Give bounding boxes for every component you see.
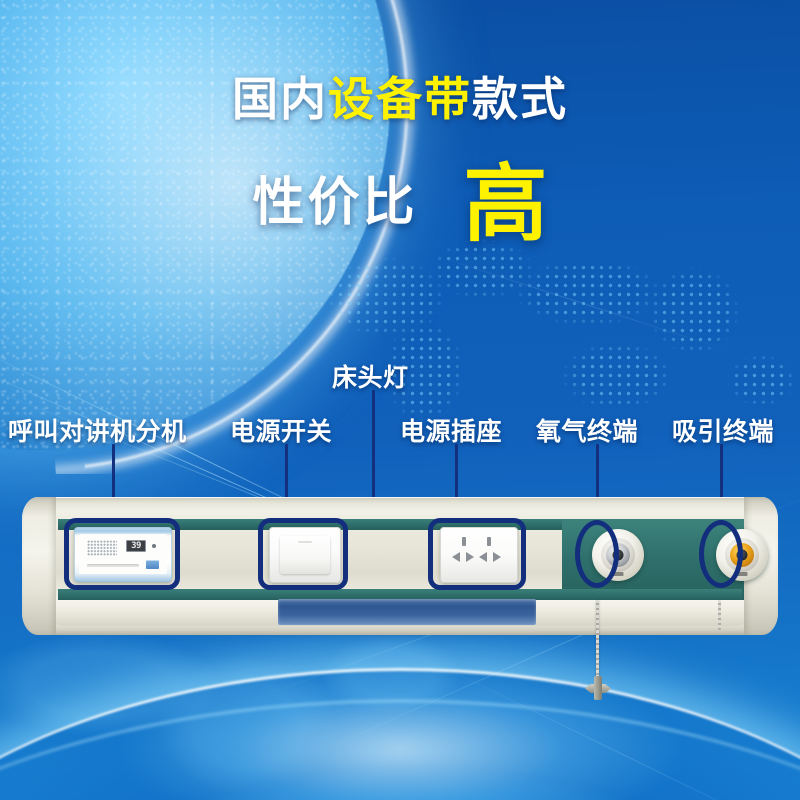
headline-seg-2: 设备带 xyxy=(328,73,472,125)
intercom-call-button[interactable] xyxy=(146,560,159,569)
terminal-port-hole xyxy=(613,550,624,561)
terminal-gas-label xyxy=(737,572,748,576)
callout-power-socket-label: 电源插座 xyxy=(400,412,502,448)
headline-seg-3: 款式 xyxy=(472,73,568,125)
intercom-faceplate: 39 xyxy=(79,534,167,574)
socket-pin-slot xyxy=(487,537,491,546)
switch-rocker[interactable] xyxy=(280,536,330,574)
socket-prong-slot xyxy=(452,552,460,562)
panel-end-cap-left xyxy=(22,497,56,635)
terminal-port-hole xyxy=(737,550,748,561)
suction-terminal-chain xyxy=(718,600,721,630)
panel-body: 39 xyxy=(22,497,778,635)
hose-connector-fitting xyxy=(585,676,611,700)
callout-bed-lamp-label: 床头灯 xyxy=(332,358,409,394)
socket-prong-slot xyxy=(479,552,487,562)
terminal-gas-label xyxy=(613,572,624,576)
intercom-vent-slot xyxy=(87,564,139,567)
headline-line-1: 国内设备带款式 xyxy=(0,72,800,126)
intercom-display: 39 xyxy=(126,540,146,552)
headline-line-2: 性价比 高 xyxy=(0,158,800,235)
headline-block: 国内设备带款式 性价比 高 xyxy=(0,72,800,126)
terminal-core xyxy=(730,543,754,567)
callout-intercom-label: 呼叫对讲机分机 xyxy=(8,412,187,448)
light-streak xyxy=(0,120,308,356)
bed-lamp-diffuser[interactable] xyxy=(278,599,536,625)
callout-power-switch-label: 电源开关 xyxy=(230,412,332,448)
power-socket-unit[interactable] xyxy=(440,527,518,583)
poster-canvas: 国内设备带款式 性价比 高 呼叫对讲机分机 电源开关 床头灯 电源插座 氧气终端… xyxy=(0,0,800,800)
headline-seg-1: 国内 xyxy=(232,73,328,125)
light-streak xyxy=(420,250,734,353)
switch-indicator-mark xyxy=(298,541,312,543)
speaker-grille-icon xyxy=(87,540,117,556)
socket-faceplate xyxy=(449,535,509,575)
oxygen-terminal-outlet[interactable] xyxy=(592,529,644,581)
headline-emphasis-char: 高 xyxy=(464,166,548,243)
oxygen-terminal-chain xyxy=(596,600,599,682)
nurse-call-intercom-unit[interactable]: 39 xyxy=(74,527,172,582)
callout-oxygen-terminal-label: 氧气终端 xyxy=(536,412,638,448)
power-switch-unit[interactable] xyxy=(269,527,341,583)
headline-value-text: 性价比 xyxy=(252,160,417,235)
socket-prong-slot xyxy=(493,552,501,562)
status-led-icon xyxy=(152,544,156,548)
socket-prong-slot xyxy=(466,552,474,562)
medical-bed-head-panel: 39 xyxy=(22,497,778,635)
terminal-core xyxy=(606,543,630,567)
callout-suction-terminal-label: 吸引终端 xyxy=(672,412,774,448)
suction-terminal-outlet[interactable] xyxy=(716,529,768,581)
socket-pin-slot xyxy=(462,537,466,546)
